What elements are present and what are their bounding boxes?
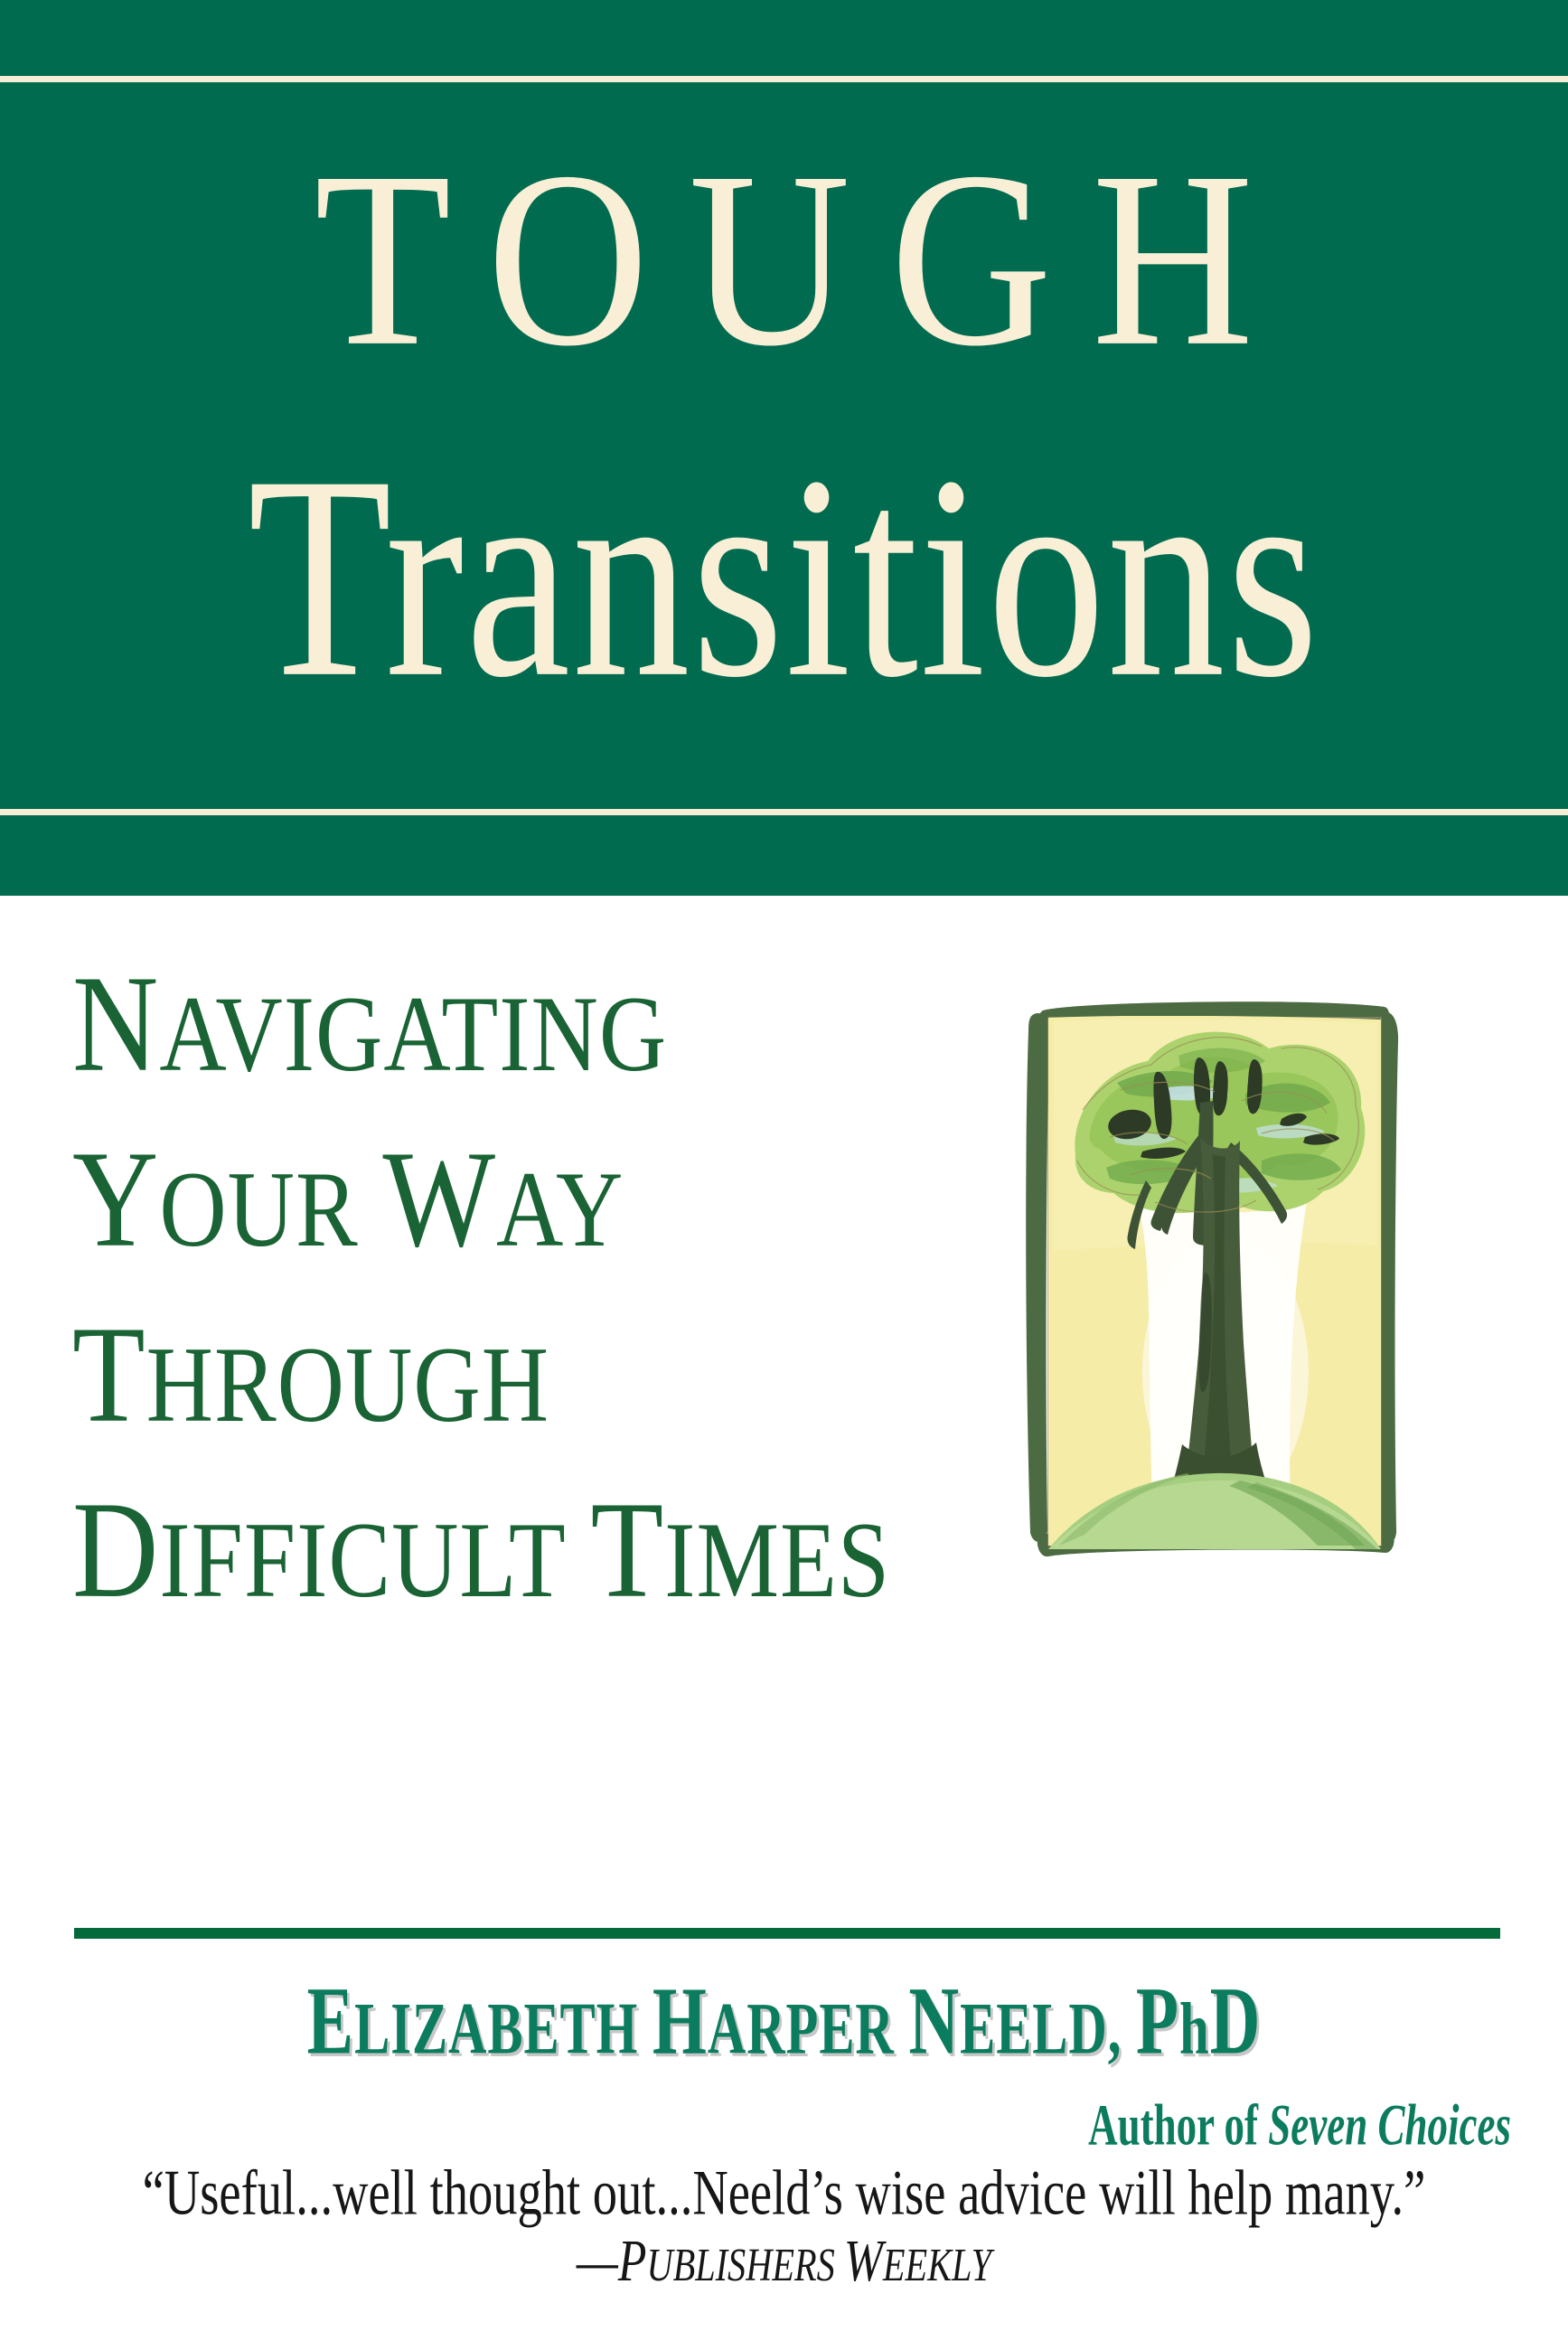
author-smallcaps: EELD,	[960, 1987, 1122, 2069]
source-smallcaps: EEKLY	[883, 2241, 991, 2291]
author-space	[1122, 1987, 1136, 2069]
subtitle-smallcaps: AY	[496, 1150, 624, 1269]
subtitle-line-4: DIFFICULT TIMES	[72, 1480, 1012, 1631]
source-smallcaps: UBLISHERS	[646, 2241, 834, 2291]
author-cap: E	[307, 1968, 354, 2075]
author-credit-prefix: Author of	[1088, 2091, 1268, 2157]
degree-cap: P	[1136, 1968, 1179, 2075]
author-smallcaps: LIZABETH	[354, 1987, 638, 2069]
bottom-divider-rule	[0, 809, 1568, 815]
subtitle-cap: D	[72, 1472, 159, 1627]
author-cap: H	[653, 1968, 708, 2075]
review-source: —PUBLISHERS WEEKLY	[47, 2231, 1521, 2290]
subtitle-cap: Y	[72, 1122, 159, 1276]
degree-cap-last: D	[1210, 1968, 1262, 2075]
author-space	[638, 1987, 653, 2069]
author-credit: Author of Seven Choices	[157, 2095, 1568, 2154]
book-title-secondary: Transitions	[32, 432, 1537, 722]
subtitle-smallcaps: OUR	[159, 1150, 358, 1269]
subtitle-line-1: NAVIGATING	[72, 954, 1012, 1104]
source-space	[835, 2241, 844, 2291]
book-subtitle: NAVIGATING YOUR WAY THROUGH DIFFICULT TI…	[72, 954, 1012, 1655]
subtitle-line-3: THROUGH	[72, 1304, 1012, 1455]
subtitle-smallcaps: HROUGH	[146, 1325, 549, 1444]
subtitle-smallcaps: AVIGATING	[159, 974, 667, 1094]
subtitle-cap: T	[591, 1472, 665, 1627]
author-smallcaps: ARPER	[708, 1987, 895, 2069]
top-divider-rule	[0, 76, 1568, 82]
subtitle-cap: W	[382, 1122, 496, 1276]
author-name: ELIZABETH HARPER NEELD, PhD	[62, 1973, 1505, 2071]
degree-smallcaps: h	[1179, 1987, 1210, 2069]
subtitle-line-2: YOUR WAY	[72, 1129, 1012, 1280]
subtitle-smallcaps: IMES	[664, 1500, 890, 1620]
subtitle-cap: N	[72, 946, 159, 1101]
author-divider-rule	[74, 1928, 1500, 1939]
source-cap: W	[844, 2227, 883, 2293]
book-cover: TOUGH Transitions NAVIGATING YOUR WAY TH…	[0, 0, 1568, 2350]
review-quote: “Useful...well thought out...Neeld’s wis…	[47, 2161, 1521, 2225]
book-title-primary: TOUGH	[0, 134, 1568, 385]
subtitle-space	[567, 1500, 591, 1620]
tree-illustration	[1019, 974, 1408, 1596]
source-cap: P	[618, 2227, 647, 2293]
subtitle-cap: T	[72, 1297, 146, 1452]
em-dash: —	[577, 2227, 618, 2293]
illustration-scene	[1048, 1016, 1381, 1549]
subtitle-space	[359, 1150, 383, 1269]
author-cap: N	[908, 1968, 960, 2075]
subtitle-smallcaps: IFFICULT	[159, 1500, 566, 1620]
author-previous-book-title: Seven Choices	[1268, 2091, 1511, 2157]
author-space	[895, 1987, 909, 2069]
